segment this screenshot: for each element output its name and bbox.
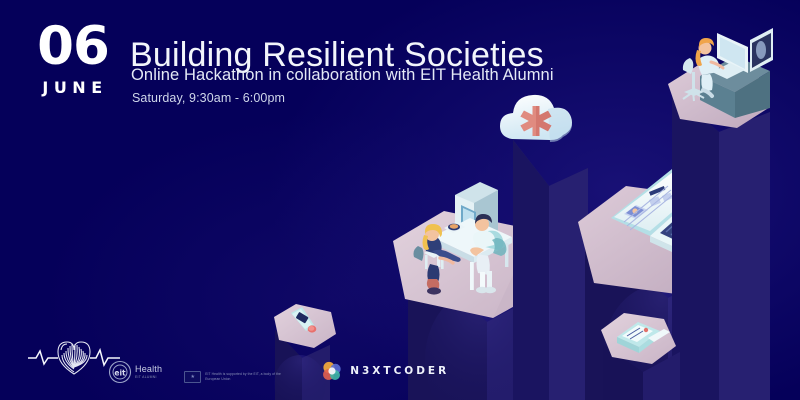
nxtcoder-name: N3XTCODER <box>350 365 449 377</box>
pillar-cloud <box>500 95 588 400</box>
eu-disclaimer: EIT Health is supported by the EIT, a bo… <box>205 372 287 382</box>
nxtcoder-logo: N3XTCODER <box>321 360 449 382</box>
pillar-workstation <box>668 28 773 400</box>
eu-support-block: ★ EIT Health is supported by the EIT, a … <box>184 371 287 383</box>
cloud-medical-icon <box>500 95 572 142</box>
date-month: JUNE <box>30 78 116 97</box>
event-time: Saturday, 9:30am - 6:00pm <box>132 91 285 105</box>
date-day: 06 <box>30 22 116 73</box>
event-subtitle: Online Hackathon in collaboration with E… <box>131 66 554 85</box>
event-banner: 06 JUNE Building Resilient Societies Onl… <box>0 0 800 400</box>
eu-stars: ★ <box>185 372 200 382</box>
eit-health-sub: EIT ALUMNI <box>135 376 162 379</box>
footer-logos: eit Health EIT ALUMNI ★ EIT Health is su… <box>28 330 449 388</box>
heart-scribble <box>58 342 90 374</box>
eit-health-name: Health <box>135 365 162 374</box>
event-date: 06 JUNE <box>30 22 116 97</box>
eu-flag-icon: ★ <box>184 371 201 383</box>
ekg-heart-logo <box>28 330 120 388</box>
nxtcoder-circles-logo <box>321 360 343 382</box>
